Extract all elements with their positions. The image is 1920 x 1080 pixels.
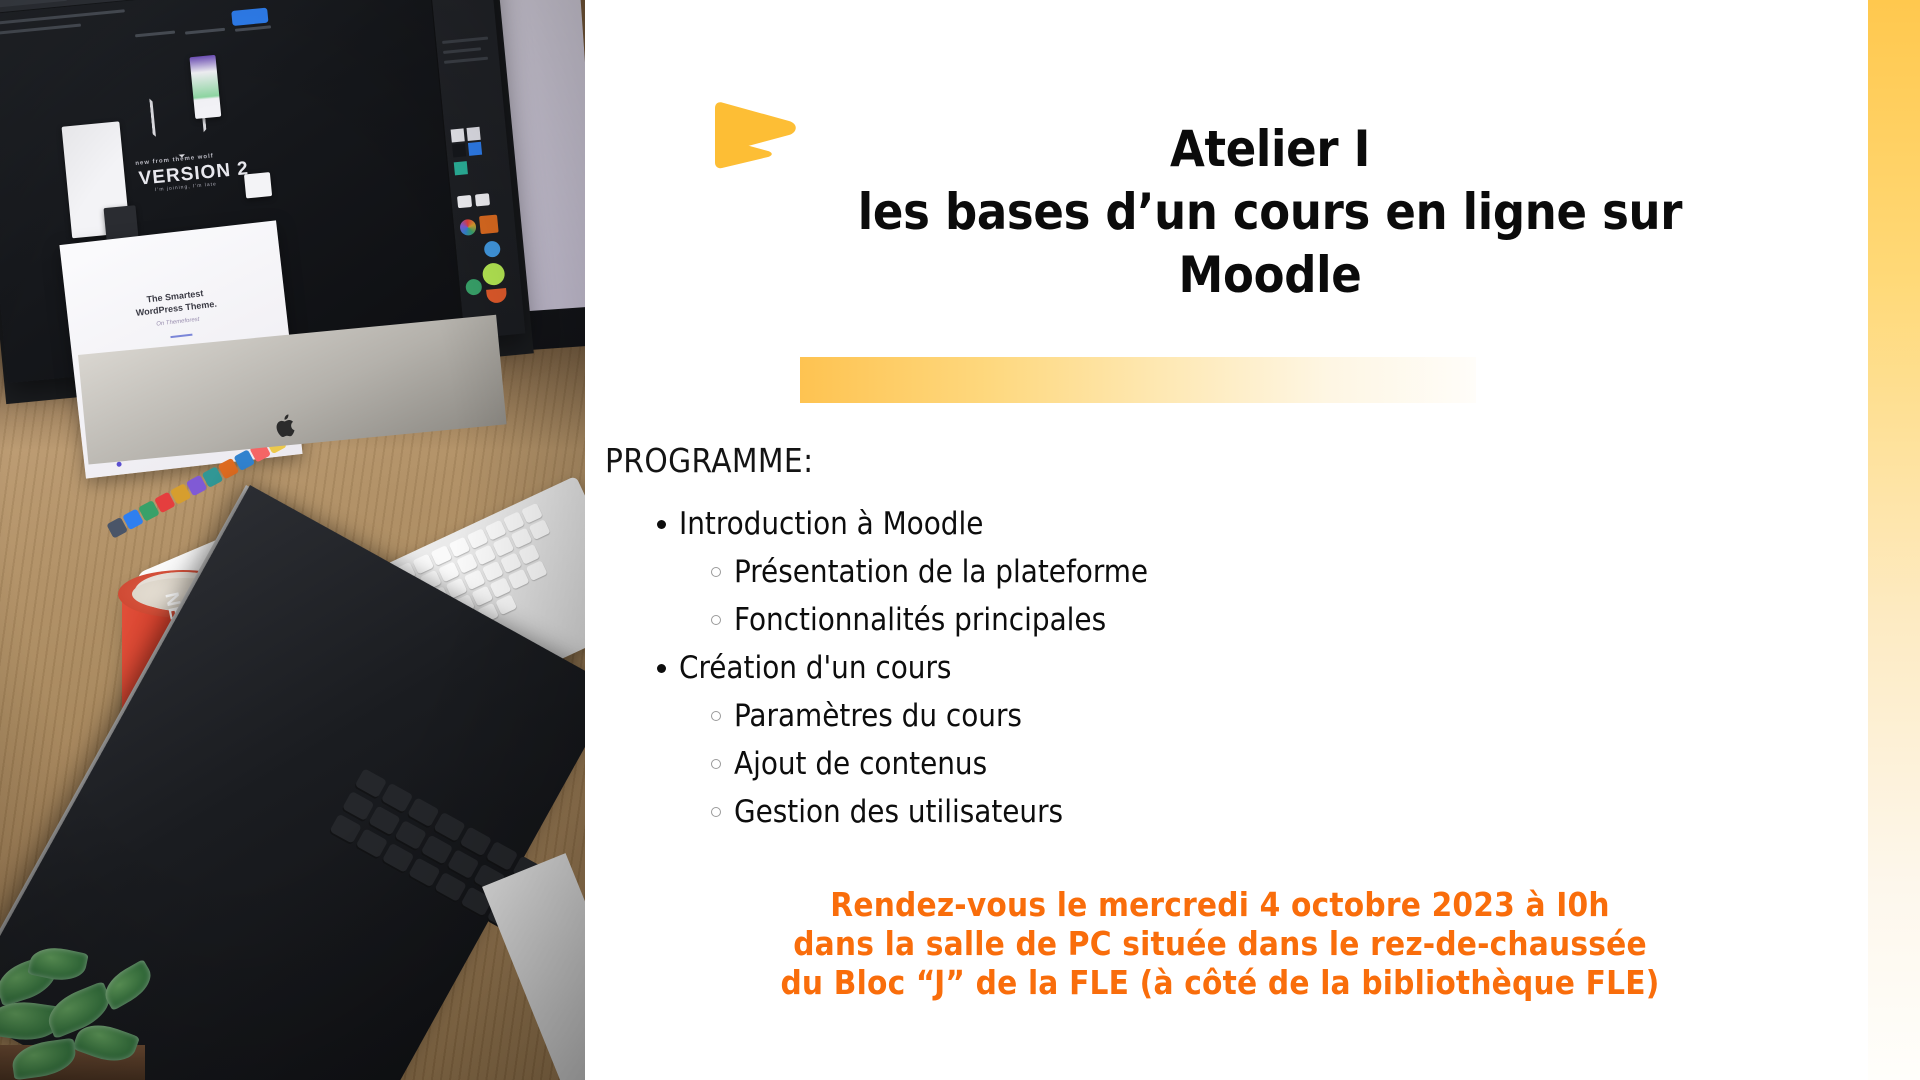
event-line-3: du Bloc “J” de la FLE (à côté de la bibl… xyxy=(780,963,1659,1002)
gradient-divider-bar xyxy=(800,357,1476,403)
illustration-dot xyxy=(116,461,122,467)
event-line-2: dans la salle de PC située dans le rez-d… xyxy=(793,924,1647,963)
list-item-label: Fonctionnalités principales xyxy=(734,602,1106,638)
list-item: Ajout de contenus xyxy=(707,740,1649,788)
bullet-hollow-icon xyxy=(711,807,721,817)
text-style-icon[interactable] xyxy=(475,193,490,206)
title-line-2: les bases d’un cours en ligne sur xyxy=(858,183,1682,241)
desk-workspace-photo: new from theme wolf VERSION 2 I'm joinin… xyxy=(0,0,585,1080)
bullet-hollow-icon xyxy=(711,759,721,769)
divider-rule xyxy=(170,334,192,338)
toolbar-line xyxy=(0,9,125,25)
panel-line xyxy=(444,57,488,64)
swatch[interactable] xyxy=(468,142,482,156)
key xyxy=(495,594,517,615)
presentation-slide: new from theme wolf VERSION 2 I'm joinin… xyxy=(0,0,1920,1080)
panel-line xyxy=(443,47,481,54)
color-wheel-icon[interactable] xyxy=(459,219,476,236)
list-item: Présentation de la plateforme xyxy=(707,548,1649,596)
panel-line xyxy=(442,37,488,44)
swatch[interactable] xyxy=(451,128,465,142)
bullet-hollow-icon xyxy=(711,711,721,721)
programme-list: Introduction à Moodle Présentation de la… xyxy=(649,500,1649,836)
primary-action-button[interactable] xyxy=(231,8,268,26)
bullet-filled-icon xyxy=(657,520,666,529)
list-item-label: Introduction à Moodle xyxy=(679,506,983,542)
mockup-card xyxy=(189,55,221,119)
swatch[interactable] xyxy=(467,127,481,141)
list-item: Introduction à Moodle xyxy=(649,500,1649,548)
slide-content: Atelier I les bases d’un cours en ligne … xyxy=(585,0,1868,1080)
event-details: Rendez-vous le mercredi 4 octobre 2023 à… xyxy=(585,885,1855,1002)
list-item-label: Paramètres du cours xyxy=(734,698,1022,734)
list-item-label: Présentation de la plateforme xyxy=(734,554,1148,590)
title-line-1: Atelier I xyxy=(1170,120,1370,178)
shape-circle xyxy=(465,278,482,295)
list-item: Création d'un cours xyxy=(649,644,1649,692)
toolbar-line xyxy=(235,25,271,31)
list-item: Gestion des utilisateurs xyxy=(707,788,1649,836)
app-icon[interactable] xyxy=(479,215,499,235)
list-item: Paramètres du cours xyxy=(707,692,1649,740)
mockup-subtitle: On Themeforest xyxy=(156,317,200,328)
list-item-label: Gestion des utilisateurs xyxy=(734,794,1063,830)
list-item: Fonctionnalités principales xyxy=(707,596,1649,644)
list-item-label: Ajout de contenus xyxy=(734,746,987,782)
slide-header: Atelier I les bases d’un cours en ligne … xyxy=(735,118,1805,307)
potted-plant xyxy=(0,930,175,1080)
bullet-hollow-icon xyxy=(711,615,721,625)
swatch[interactable] xyxy=(452,143,466,157)
event-line-1: Rendez-vous le mercredi 4 octobre 2023 à… xyxy=(830,885,1609,924)
programme-heading: PROGRAMME: xyxy=(605,441,814,480)
text-style-icon[interactable] xyxy=(457,195,472,208)
apple-logo-icon xyxy=(275,412,300,440)
swatch[interactable] xyxy=(454,161,468,175)
bullet-hollow-icon xyxy=(711,567,721,577)
right-accent-strip xyxy=(1868,0,1920,1080)
list-item-label: Création d'un cours xyxy=(679,650,951,686)
toolbar-line xyxy=(0,24,81,36)
page-title: Atelier I les bases d’un cours en ligne … xyxy=(735,118,1805,307)
bullet-filled-icon xyxy=(657,664,666,673)
shape-arc xyxy=(486,288,507,304)
toolbar-line xyxy=(135,31,175,38)
leaf xyxy=(10,1038,78,1080)
shape-circle xyxy=(482,262,506,286)
mockup-card xyxy=(244,172,272,198)
toolbar-line xyxy=(185,28,225,35)
shape-circle xyxy=(484,240,501,257)
mockup-card-title: The Smartest WordPress Theme. On Themefo… xyxy=(110,283,243,335)
title-line-3: Moodle xyxy=(1179,246,1362,304)
